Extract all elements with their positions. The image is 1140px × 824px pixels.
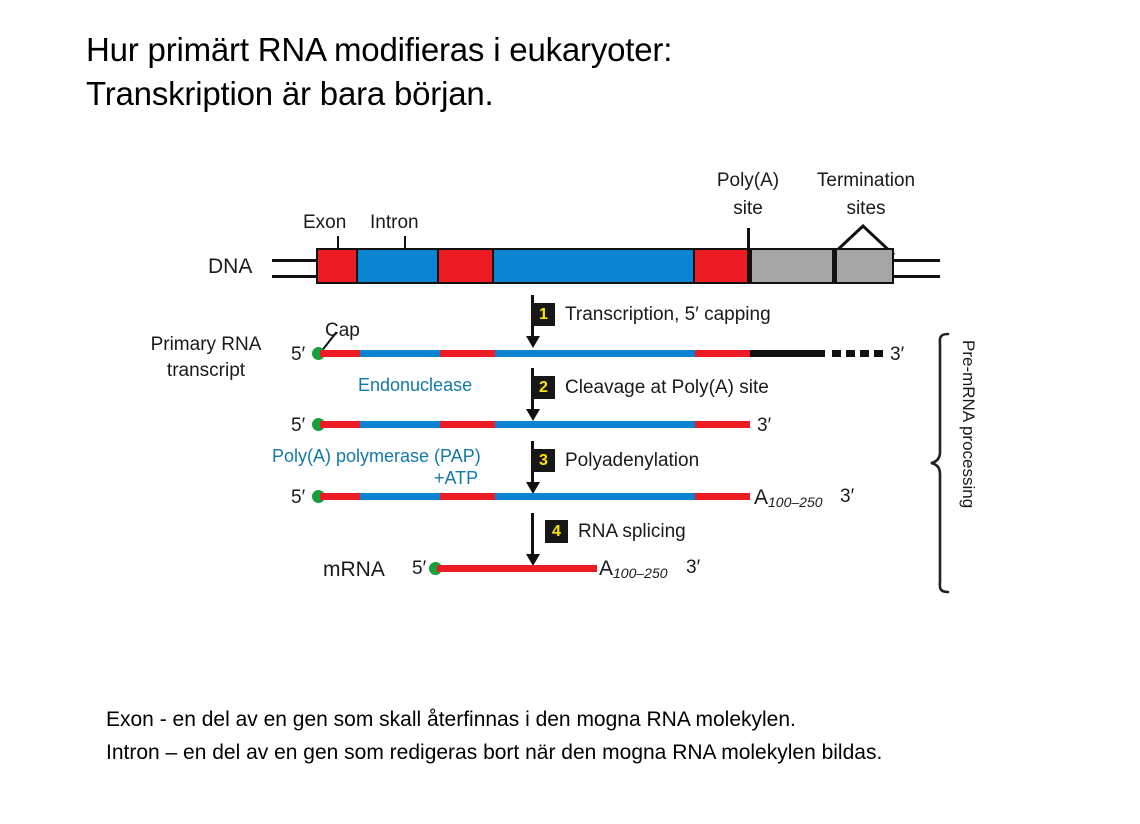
polya-site-arrow — [747, 228, 750, 250]
definitions-caption: Exon - en del av en gen som skall återfi… — [106, 703, 1086, 769]
caption-line-intron: Intron – en del av en gen som redigeras … — [106, 736, 1086, 769]
primary-three-prime: 3′ — [890, 344, 904, 366]
dna-left-strand-top — [272, 259, 320, 262]
primary-transcript-label-line1: Primary RNA — [130, 334, 282, 356]
mrna-polya-tail-base: A — [599, 557, 613, 580]
dna-divider-2 — [437, 250, 439, 282]
intron-label: Intron — [370, 212, 419, 234]
primary-dashed-tail — [832, 350, 883, 357]
cleaved-five-prime: 5′ — [291, 415, 305, 437]
dna-divider-4 — [693, 250, 695, 282]
dna-exon-1 — [318, 250, 356, 282]
primary-transcript-label-line2: transcript — [130, 360, 282, 382]
step-1-badge: 1 — [532, 303, 555, 326]
cleaved-three-prime: 3′ — [757, 415, 771, 437]
polya-tail-subscript: 100–250 — [768, 494, 823, 510]
dna-divider-3 — [492, 250, 494, 282]
dna-divider-polya — [747, 250, 752, 282]
mrna-polya-tail-label: A100–250 — [599, 557, 668, 581]
polya-intron-2 — [495, 493, 695, 500]
primary-exon-1 — [320, 350, 360, 357]
cleaved-intron-1 — [360, 421, 440, 428]
mrna-label: mRNA — [323, 558, 385, 582]
step-3-badge: 3 — [532, 449, 555, 472]
exon-label: Exon — [303, 212, 346, 234]
caption-line-exon: Exon - en del av en gen som skall återfi… — [106, 703, 1086, 736]
pre-mrna-processing-label: Pre-mRNA processing — [958, 340, 978, 508]
polya-intron-1 — [360, 493, 440, 500]
mrna-coding-strand — [437, 565, 597, 572]
polya-exon-3 — [695, 493, 750, 500]
polya-site-label-line1: Poly(A) — [700, 170, 796, 192]
primary-five-prime: 5′ — [291, 344, 305, 366]
polya-three-prime: 3′ — [840, 486, 854, 508]
polya-tail-base: A — [754, 486, 768, 509]
slide: Hur primärt RNA modifieras i eukaryoter:… — [0, 0, 1140, 824]
pre-mrna-processing-brace — [928, 332, 954, 594]
mrna-polya-tail-subscript: 100–250 — [613, 565, 668, 581]
dna-intron-2 — [492, 250, 693, 282]
dna-intron-1 — [356, 250, 437, 282]
dna-divider-termination — [832, 250, 837, 282]
dna-left-strand-bottom — [272, 275, 320, 278]
primary-intron-1 — [360, 350, 440, 357]
step-3-text: Polyadenylation — [565, 450, 699, 472]
dna-downstream-2 — [836, 250, 892, 282]
polya-five-prime: 5′ — [291, 487, 305, 509]
dna-exon-3 — [693, 250, 749, 282]
step-4-arrow — [531, 513, 534, 555]
step-3-enzyme-cofactor: +ATP — [434, 468, 478, 489]
primary-downstream — [750, 350, 825, 357]
dna-right-strand-top — [890, 259, 940, 262]
cleaved-intron-2 — [495, 421, 695, 428]
primary-exon-3 — [695, 350, 750, 357]
step-4-badge: 4 — [545, 520, 568, 543]
dna-label: DNA — [208, 255, 252, 279]
rna-processing-diagram: Exon Intron Poly(A) site Termination sit… — [0, 0, 1140, 824]
polya-exon-2 — [440, 493, 495, 500]
step-2-enzyme-label: Endonuclease — [358, 375, 472, 396]
polya-exon-1 — [320, 493, 360, 500]
cleaved-exon-3 — [695, 421, 750, 428]
step-2-text: Cleavage at Poly(A) site — [565, 377, 769, 399]
dna-exon-2 — [437, 250, 492, 282]
step-4-text: RNA splicing — [578, 521, 686, 543]
dna-gene-bar — [316, 248, 894, 284]
dna-right-strand-bottom — [890, 275, 940, 278]
step-2-badge: 2 — [532, 376, 555, 399]
mrna-three-prime: 3′ — [686, 557, 700, 579]
termination-sites-label-line2: sites — [790, 198, 942, 220]
mrna-five-prime: 5′ — [412, 558, 426, 580]
polya-tail-label: A100–250 — [754, 486, 823, 510]
primary-intron-2 — [495, 350, 695, 357]
dna-downstream-1 — [749, 250, 834, 282]
step-3-enzyme-label: Poly(A) polymerase (PAP) — [272, 446, 481, 467]
dna-divider-1 — [356, 250, 358, 282]
cleaved-exon-2 — [440, 421, 495, 428]
polya-site-label-line2: site — [700, 198, 796, 220]
step-1-text: Transcription, 5′ capping — [565, 304, 771, 326]
termination-sites-label-line1: Termination — [790, 170, 942, 192]
cleaved-exon-1 — [320, 421, 360, 428]
primary-exon-2 — [440, 350, 495, 357]
